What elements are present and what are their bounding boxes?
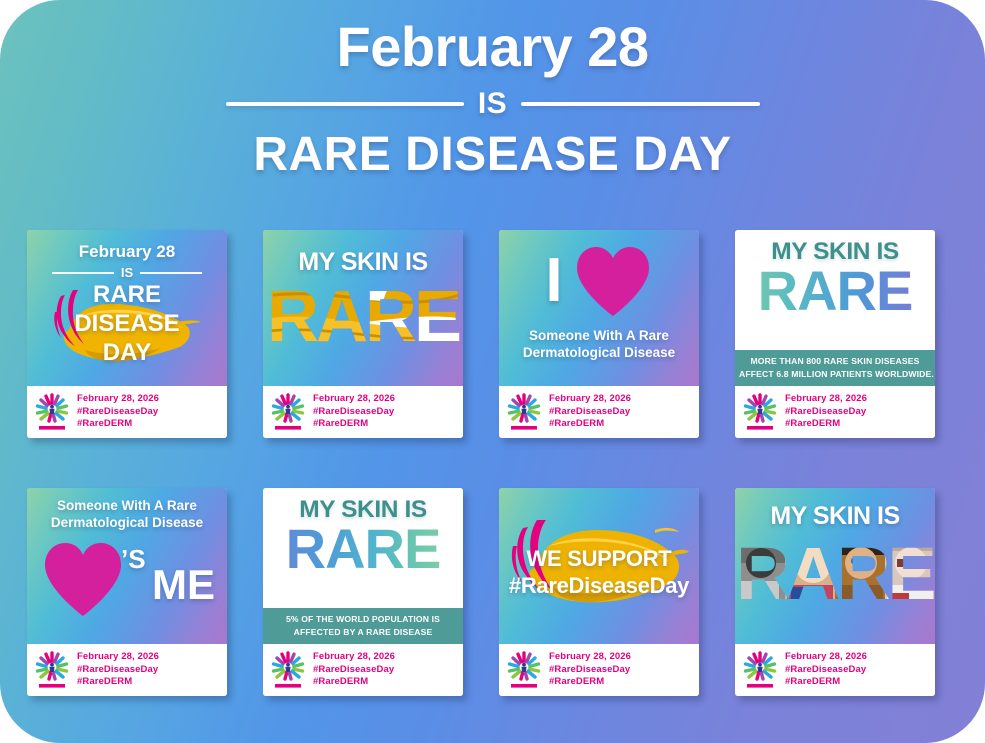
card5-apostrophe-s: ’S [121, 544, 146, 575]
footer-line-hashtag1: #RareDiseaseDay [77, 664, 159, 677]
card-footer-text: February 28, 2026 #RareDiseaseDay #RareD… [313, 393, 395, 431]
card-date-rare-disease-day[interactable]: February 28 IS RARE DISEASE DAY [27, 230, 227, 438]
card-footer: February 28, 2026 #RareDiseaseDay #RareD… [27, 644, 227, 696]
card-footer: February 28, 2026 #RareDiseaseDay #RareD… [263, 386, 463, 438]
card5-heart-me-row: ’S ME [27, 534, 227, 620]
card-my-skin-is-rare-5pct[interactable]: MY SKIN IS RARE 5% OF THE WORLD POPULATI… [263, 488, 463, 696]
card-we-support[interactable]: WE SUPPORT #RareDiseaseDay [499, 488, 699, 696]
rare-disease-day-logo [271, 393, 305, 431]
card-art: February 28 IS RARE DISEASE DAY [27, 230, 227, 386]
card-heart-s-me[interactable]: Someone With A Rare Dermatological Disea… [27, 488, 227, 696]
footer-line-date: February 28, 2026 [313, 393, 395, 406]
card-footer: February 28, 2026 #RareDiseaseDay #RareD… [27, 386, 227, 438]
card-my-skin-is-rare-paint[interactable]: MY SKIN IS [263, 230, 463, 438]
footer-line-hashtag1: #RareDiseaseDay [785, 406, 867, 419]
card4-rare-word: RARE [735, 264, 935, 317]
footer-line-hashtag2: #RareDERM [785, 676, 867, 689]
card-art: WE SUPPORT #RareDiseaseDay [499, 488, 699, 644]
card-art: MY SKIN IS RARE 5% OF THE WORLD POPULATI… [263, 488, 463, 644]
card-footer-text: February 28, 2026 #RareDiseaseDay #RareD… [785, 651, 867, 689]
card-footer-text: February 28, 2026 #RareDiseaseDay #RareD… [785, 393, 867, 431]
card7-text-block: WE SUPPORT #RareDiseaseDay [499, 546, 699, 599]
footer-line-hashtag1: #RareDiseaseDay [313, 406, 395, 419]
footer-line-hashtag1: #RareDiseaseDay [77, 406, 159, 419]
card2-rare-paint-letters: RARE [263, 279, 463, 353]
card-art: Someone With A Rare Dermatological Disea… [27, 488, 227, 644]
card1-rule-right [140, 272, 202, 274]
footer-line-hashtag1: #RareDiseaseDay [785, 664, 867, 677]
footer-line-hashtag2: #RareDERM [549, 418, 631, 431]
poster-canvas: February 28 IS RARE DISEASE DAY [0, 0, 985, 743]
heart-icon [41, 540, 125, 618]
footer-line-date: February 28, 2026 [549, 651, 631, 664]
header-date: February 28 [0, 18, 985, 77]
rare-disease-day-logo [507, 393, 541, 431]
card4-stat-line-2: AFFECT 6.8 MILLION PATIENTS WORLDWIDE. [739, 368, 931, 380]
card-footer: February 28, 2026 #RareDiseaseDay #RareD… [735, 386, 935, 438]
card3-letter-i: I [545, 253, 562, 309]
footer-line-hashtag1: #RareDiseaseDay [549, 664, 631, 677]
card4-stat-bar: MORE THAN 800 RARE SKIN DISEASES AFFECT … [735, 350, 935, 386]
heart-icon [573, 244, 653, 318]
card6-stat-bar: 5% OF THE WORLD POPULATION IS AFFECTED B… [263, 608, 463, 644]
footer-line-hashtag2: #RareDERM [77, 676, 159, 689]
rare-disease-day-logo [507, 651, 541, 689]
footer-line-date: February 28, 2026 [77, 651, 159, 664]
card-footer: February 28, 2026 #RareDiseaseDay #RareD… [263, 644, 463, 696]
rare-disease-day-logo [35, 651, 69, 689]
footer-line-hashtag2: #RareDERM [785, 418, 867, 431]
card-i-heart-someone[interactable]: I Someone With A Rare Dermatological Dis… [499, 230, 699, 438]
rare-disease-day-logo [743, 393, 777, 431]
card-footer: February 28, 2026 #RareDiseaseDay #RareD… [499, 644, 699, 696]
footer-line-date: February 28, 2026 [785, 651, 867, 664]
card-art: I Someone With A Rare Dermatological Dis… [499, 230, 699, 386]
rare-disease-day-logo [271, 651, 305, 689]
card6-stat-line-1: 5% OF THE WORLD POPULATION IS [267, 613, 459, 625]
card3-subline-2: Dermatological Disease [499, 345, 699, 362]
card7-line-1: WE SUPPORT [499, 546, 699, 572]
rare-disease-day-logo [35, 393, 69, 431]
card-footer-text: February 28, 2026 #RareDiseaseDay #RareD… [77, 651, 159, 689]
header-rule-right [521, 102, 759, 106]
card-art: MY SKIN IS RARE MORE THAN 800 RARE SKIN … [735, 230, 935, 386]
card-footer-text: February 28, 2026 #RareDiseaseDay #RareD… [313, 651, 395, 689]
card4-stat-line-1: MORE THAN 800 RARE SKIN DISEASES [739, 355, 931, 367]
footer-line-hashtag1: #RareDiseaseDay [313, 664, 395, 677]
card6-rare-word: RARE [263, 522, 463, 575]
card5-me-word: ME [152, 564, 215, 606]
card5-subline-1: Someone With A Rare [27, 498, 227, 515]
card-my-skin-is-rare-photos[interactable]: MY SKIN IS [735, 488, 935, 696]
svg-text:RARE: RARE [736, 533, 934, 611]
footer-line-hashtag2: #RareDERM [549, 676, 631, 689]
footer-line-hashtag2: #RareDERM [313, 418, 395, 431]
header-is-label: IS [478, 87, 507, 121]
poster-panel: February 28 IS RARE DISEASE DAY [0, 0, 985, 743]
card5-subline-2: Dermatological Disease [27, 515, 227, 532]
card-footer-text: February 28, 2026 #RareDiseaseDay #RareD… [77, 393, 159, 431]
card1-line1: RARE [27, 282, 227, 309]
card-footer: February 28, 2026 #RareDiseaseDay #RareD… [735, 644, 935, 696]
card1-is-label: IS [121, 265, 133, 280]
card1-is-row: IS [52, 265, 202, 280]
card1-line3: DAY [27, 340, 227, 367]
card-art: MY SKIN IS [735, 488, 935, 644]
footer-line-hashtag2: #RareDERM [313, 676, 395, 689]
footer-line-date: February 28, 2026 [549, 393, 631, 406]
card2-top-line: MY SKIN IS [263, 248, 463, 277]
header-is-row: IS [226, 87, 760, 121]
header-title: RARE DISEASE DAY [0, 127, 985, 182]
footer-line-date: February 28, 2026 [785, 393, 867, 406]
card3-subline-1: Someone With A Rare [499, 328, 699, 345]
card8-top-line: MY SKIN IS [735, 502, 935, 531]
card-footer-text: February 28, 2026 #RareDiseaseDay #RareD… [549, 393, 631, 431]
footer-line-date: February 28, 2026 [313, 651, 395, 664]
poster-header: February 28 IS RARE DISEASE DAY [0, 18, 985, 182]
card-footer: February 28, 2026 #RareDiseaseDay #RareD… [499, 386, 699, 438]
svg-text:RARE: RARE [267, 279, 460, 353]
card6-stat-line-2: AFFECTED BY A RARE DISEASE [267, 626, 459, 638]
header-rule-left [226, 102, 464, 106]
card3-i-heart-row: I [499, 244, 699, 318]
card8-rare-photo-letters: RARE [735, 533, 935, 611]
footer-line-hashtag2: #RareDERM [77, 418, 159, 431]
card1-line2: DISEASE [27, 311, 227, 338]
card7-line-2: #RareDiseaseDay [499, 573, 699, 599]
card-footer-text: February 28, 2026 #RareDiseaseDay #RareD… [549, 651, 631, 689]
card-grid: February 28 IS RARE DISEASE DAY [27, 230, 945, 696]
card1-date: February 28 [27, 242, 227, 262]
rare-disease-day-logo [743, 651, 777, 689]
card-art: MY SKIN IS [263, 230, 463, 386]
footer-line-hashtag1: #RareDiseaseDay [549, 406, 631, 419]
card1-rule-left [52, 272, 114, 274]
footer-line-date: February 28, 2026 [77, 393, 159, 406]
card-my-skin-is-rare-800[interactable]: MY SKIN IS RARE MORE THAN 800 RARE SKIN … [735, 230, 935, 438]
